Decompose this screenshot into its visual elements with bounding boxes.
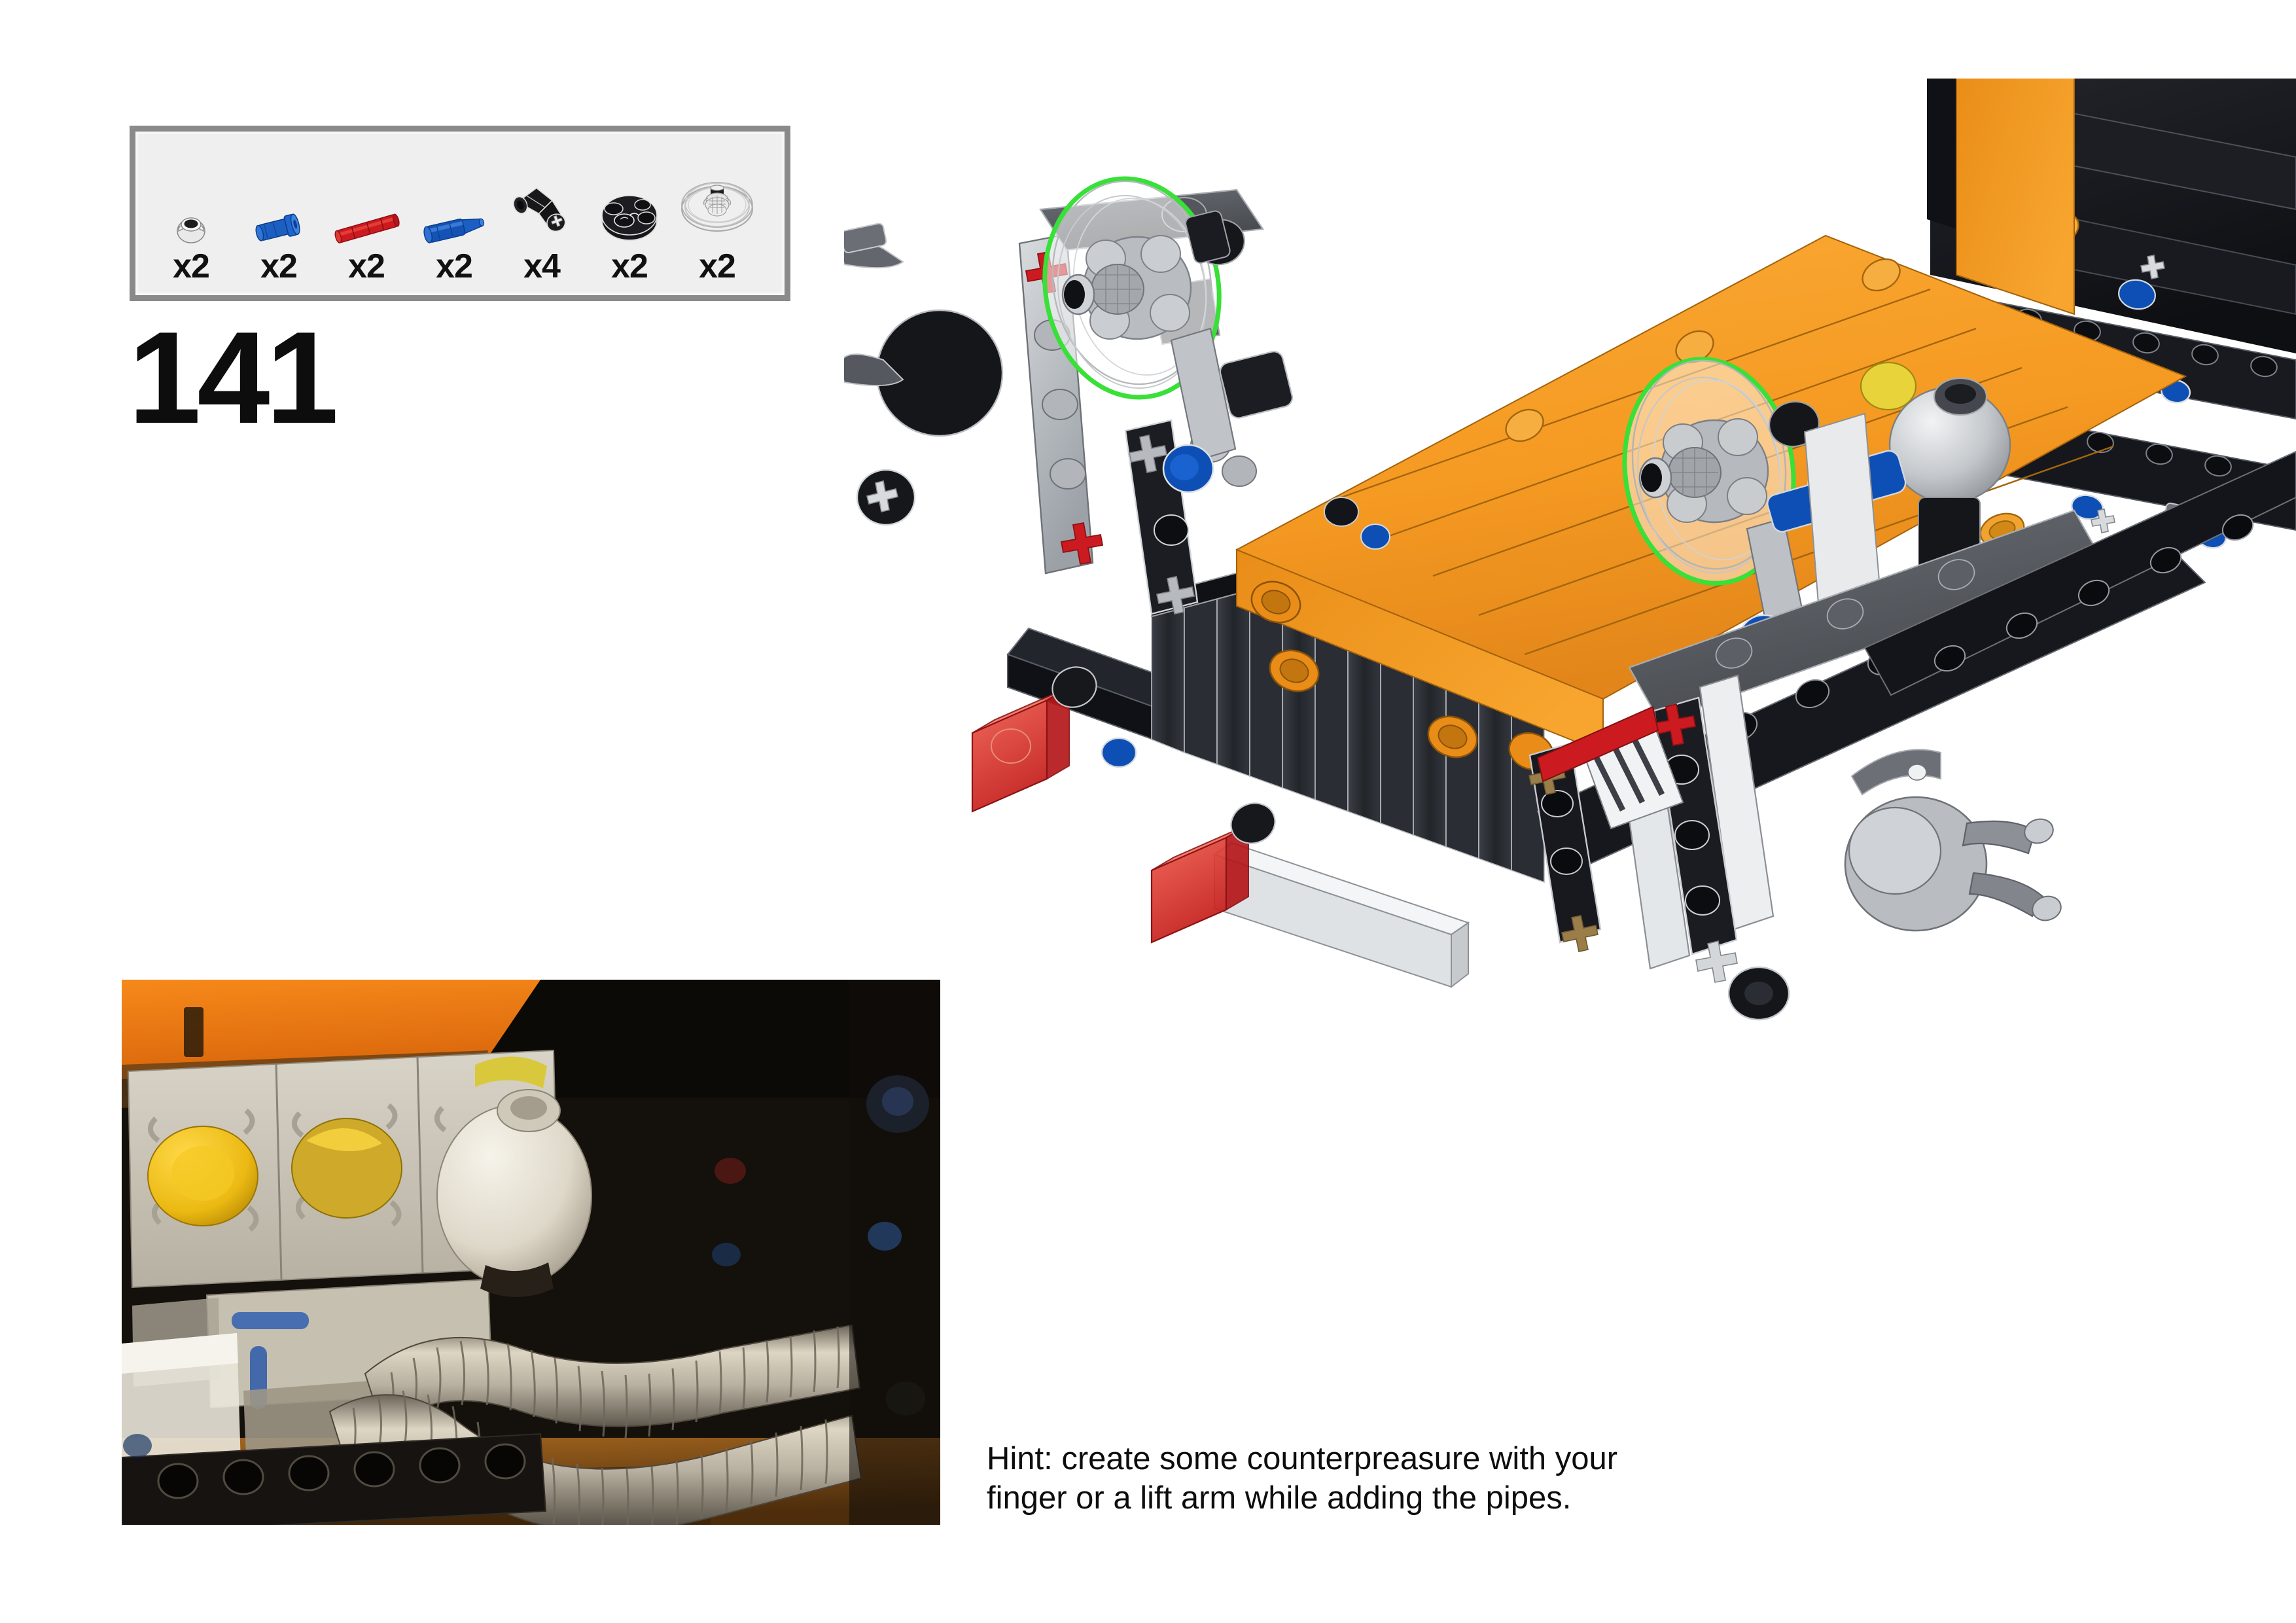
part-quantity: x2 <box>348 249 385 283</box>
blue-long-pin-icon <box>413 163 495 248</box>
step-number: 141 <box>128 313 335 444</box>
hint-line-2: finger or a lift arm while adding the pi… <box>987 1479 1792 1518</box>
part-quantity: x2 <box>436 249 472 283</box>
hint-line-1: Hint: create some counterpreasure with y… <box>987 1440 1792 1479</box>
part-quantity: x2 <box>260 249 297 283</box>
white-front-bar <box>1214 843 1468 987</box>
part-item-round-connector-black: x2 <box>588 163 671 283</box>
red-axle-icon <box>325 163 408 248</box>
assembly-svg <box>844 79 2296 1152</box>
part-item-ribbed-hose-coil: x2 <box>676 163 758 283</box>
part-quantity: x2 <box>699 249 735 283</box>
blue-pin-icon <box>238 163 320 248</box>
half-bush-icon <box>150 163 232 248</box>
part-quantity: x2 <box>611 249 648 283</box>
parts-list: x2 x2 <box>135 132 785 295</box>
part-item-pin-long-blue: x2 <box>413 163 495 283</box>
hint-text: Hint: create some counterpreasure with y… <box>987 1440 1792 1518</box>
part-item-bush-half-light-gray: x2 <box>150 163 232 283</box>
parts-callout-box: x2 x2 <box>130 126 790 301</box>
wheel-hub <box>1845 750 2064 931</box>
photo-svg <box>122 980 940 1525</box>
part-item-pin-3l-blue-axle: x2 <box>238 163 320 283</box>
reference-photo <box>122 980 940 1525</box>
part-quantity: x4 <box>523 249 560 283</box>
assembly-render <box>844 79 2296 1152</box>
part-item-axle-2l-red: x2 <box>325 163 408 283</box>
part-item-angle-connector-black: x4 <box>501 163 583 283</box>
black-angle-connector-icon <box>501 163 583 248</box>
yellow-element <box>1861 363 1916 410</box>
part-quantity: x2 <box>173 249 209 283</box>
ribbed-hose-icon <box>676 163 758 248</box>
black-round-connector-icon <box>588 163 671 248</box>
